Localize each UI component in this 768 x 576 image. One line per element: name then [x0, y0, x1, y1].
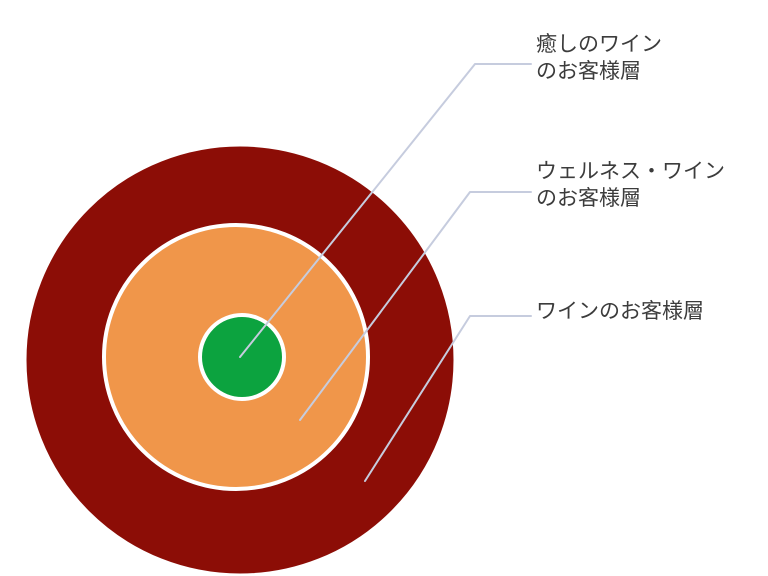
label-wellness-wine-customers: ウェルネス・ワイン のお客様層 — [536, 158, 725, 212]
label-healing-wine-customers-line1: 癒しのワイン — [536, 31, 662, 58]
label-healing-wine-customers: 癒しのワイン のお客様層 — [536, 31, 662, 85]
label-wellness-wine-customers-line1: ウェルネス・ワイン — [536, 158, 725, 185]
label-wellness-wine-customers-line2: のお客様層 — [536, 185, 725, 212]
diagram-canvas: 癒しのワイン のお客様層 ウェルネス・ワイン のお客様層 ワインのお客様層 — [0, 0, 768, 576]
label-healing-wine-customers-line2: のお客様層 — [536, 58, 662, 85]
label-wine-customers: ワインのお客様層 — [536, 298, 704, 325]
inner-circle-healing-wine-customers[interactable] — [200, 315, 284, 399]
concentric-circles-graphic — [0, 0, 768, 576]
label-wine-customers-line1: ワインのお客様層 — [536, 298, 704, 325]
